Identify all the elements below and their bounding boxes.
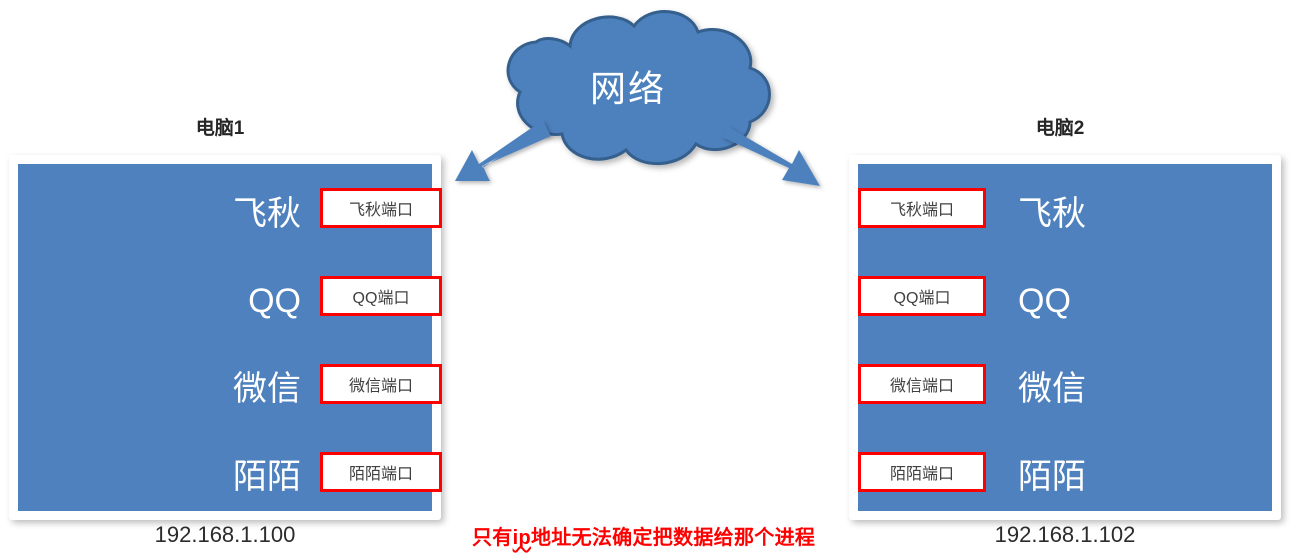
computer1-port-label-0: 飞秋端口 bbox=[349, 196, 413, 220]
cloud-label: 网络 bbox=[474, 60, 782, 112]
computer1-port-box-3[interactable]: 陌陌端口 bbox=[320, 452, 442, 492]
computer1-app-name-3: 陌陌 bbox=[18, 460, 301, 494]
note-annotation: 只有ip地址无法确定把数据给那个进程 bbox=[472, 521, 815, 550]
computer1-port-label-1: QQ端口 bbox=[353, 284, 410, 308]
computer2-title: 电脑2 bbox=[960, 113, 1160, 140]
computer2-app-name-2: 微信 bbox=[1018, 372, 1086, 406]
computer2-port-box-0[interactable]: 飞秋端口 bbox=[858, 188, 986, 228]
computer1-title: 电脑1 bbox=[120, 113, 320, 140]
computer2-ip: 192.168.1.102 bbox=[960, 522, 1170, 548]
computer2-app-name-1: QQ bbox=[1018, 284, 1071, 318]
computer1-port-box-1[interactable]: QQ端口 bbox=[320, 276, 442, 316]
computer1-screen: 飞秋 QQ 微信 陌陌 飞秋端口 QQ端口 微信端口 陌陌端口 bbox=[18, 164, 432, 511]
computer2-port-label-0: 飞秋端口 bbox=[890, 196, 954, 220]
computer2-port-box-3[interactable]: 陌陌端口 bbox=[858, 452, 986, 492]
computer2-port-label-3: 陌陌端口 bbox=[890, 460, 954, 484]
diagram-canvas: 网络 电脑1 飞秋 QQ 微信 陌陌 飞秋端口 bbox=[0, 0, 1308, 556]
computer1-port-box-2[interactable]: 微信端口 bbox=[320, 364, 442, 404]
computer1-port-label-3: 陌陌端口 bbox=[349, 460, 413, 484]
note-prefix: 只有 bbox=[472, 527, 513, 549]
computer2-screen: 飞秋 QQ 微信 陌陌 飞秋端口 QQ端口 微信端口 陌陌端口 bbox=[858, 164, 1272, 511]
computer2-port-box-2[interactable]: 微信端口 bbox=[858, 364, 986, 404]
computer1-box: 飞秋 QQ 微信 陌陌 飞秋端口 QQ端口 微信端口 陌陌端口 bbox=[9, 155, 441, 520]
computer1-app-name-1: QQ bbox=[18, 284, 301, 318]
computer1-app-name-0: 飞秋 bbox=[18, 197, 301, 231]
computer2-port-label-1: QQ端口 bbox=[894, 284, 951, 308]
computer1-ip: 192.168.1.100 bbox=[120, 522, 330, 548]
computer2-box: 飞秋 QQ 微信 陌陌 飞秋端口 QQ端口 微信端口 陌陌端口 bbox=[849, 155, 1281, 520]
computer2-port-label-2: 微信端口 bbox=[890, 372, 954, 396]
note-misspelled-word: ip bbox=[513, 527, 531, 549]
computer1-app-name-2: 微信 bbox=[18, 372, 301, 406]
computer2-app-name-3: 陌陌 bbox=[1018, 460, 1086, 494]
computer1-port-box-0[interactable]: 飞秋端口 bbox=[320, 188, 442, 228]
computer1-port-label-2: 微信端口 bbox=[349, 372, 413, 396]
computer2-app-name-0: 飞秋 bbox=[1018, 197, 1086, 231]
computer2-port-box-1[interactable]: QQ端口 bbox=[858, 276, 986, 316]
note-suffix: 地址无法确定把数据给那个进程 bbox=[531, 527, 815, 549]
network-cloud: 网络 bbox=[474, 2, 782, 172]
